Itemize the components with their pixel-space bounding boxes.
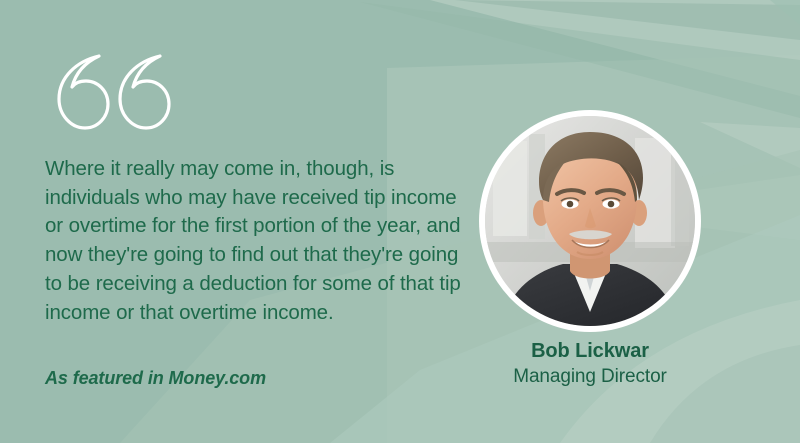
background-ray-top (430, 0, 800, 96)
background-ray-top-dark (455, 0, 800, 40)
double-quote-open-icon (47, 53, 171, 137)
quote-text: Where it really may come in, though, is … (45, 155, 465, 327)
background-ray-upper-band (360, 2, 800, 118)
avatar (479, 110, 701, 332)
person-role: Managing Director (460, 364, 720, 390)
person-name: Bob Lickwar (460, 338, 720, 364)
attribution: Bob Lickwar Managing Director (460, 338, 720, 390)
background-sliver (770, 0, 800, 25)
quote-card: Where it really may come in, though, is … (0, 0, 800, 443)
background-ray-mid (700, 122, 800, 168)
headshot-photo (485, 116, 695, 326)
avatar-image-clip (485, 116, 695, 326)
featured-in-label: As featured in Money.com (45, 368, 266, 389)
